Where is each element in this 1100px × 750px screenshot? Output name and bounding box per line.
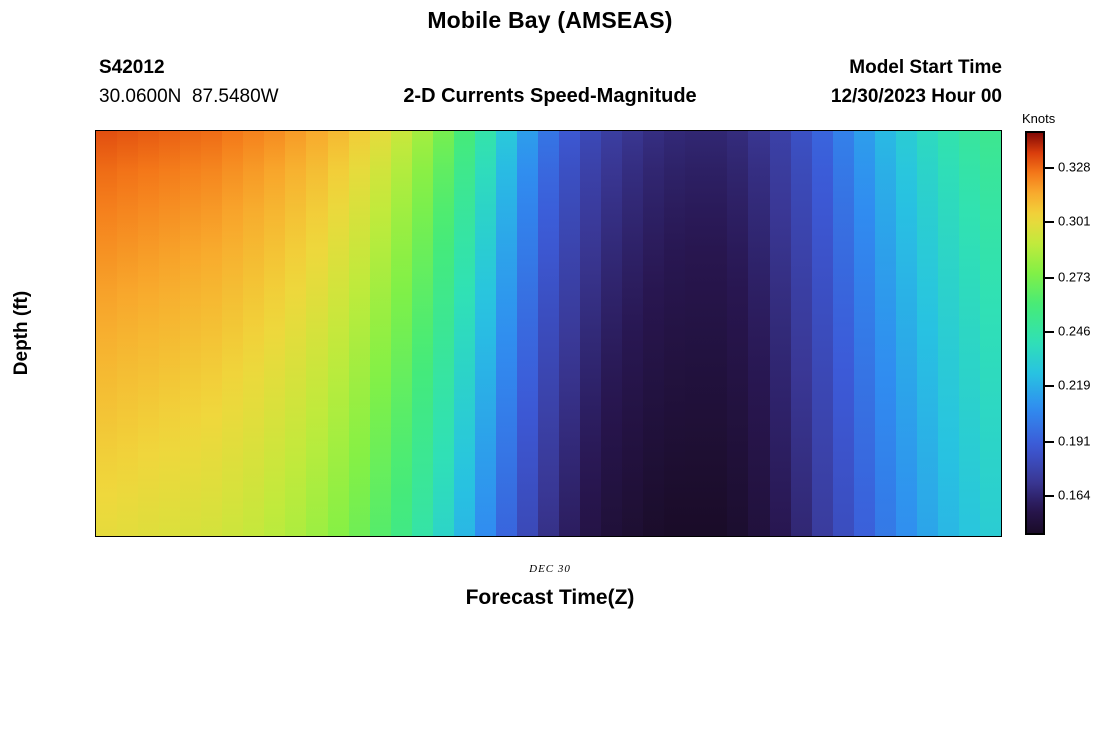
- y-axis-tick-minor: [95, 221, 96, 223]
- y-axis-tick-minor: [95, 298, 96, 300]
- y-axis-tick-major: [95, 452, 96, 454]
- heatmap-column: [96, 131, 117, 536]
- heatmap-column: [496, 131, 517, 536]
- station-id: S42012: [99, 57, 165, 79]
- heatmap-column: [812, 131, 833, 536]
- heatmap-column: [412, 131, 433, 536]
- colorbar-tick-label: 0.219: [1058, 379, 1091, 392]
- heatmap-column: [896, 131, 917, 536]
- right-axis-tick: [1001, 240, 1002, 242]
- right-axis-tick: [1001, 253, 1002, 255]
- right-axis-tick: [1001, 208, 1002, 210]
- y-axis-tick-major: [95, 485, 96, 487]
- heatmap-column: [117, 131, 138, 536]
- heatmap-column: [349, 131, 370, 536]
- right-axis-tick: [1001, 510, 1002, 512]
- heatmap-column: [159, 131, 180, 536]
- right-axis-tick: [1001, 182, 1002, 184]
- colorbar-tick-label: 0.164: [1058, 489, 1091, 502]
- y-axis-tick-minor: [95, 343, 96, 345]
- y-axis-tick-minor: [95, 375, 96, 377]
- heatmap-column: [748, 131, 769, 536]
- heatmap-column: [580, 131, 601, 536]
- right-axis-tick: [1001, 292, 1002, 294]
- y-axis-tick-major: [95, 388, 96, 390]
- y-axis-tick-minor: [95, 427, 96, 429]
- y-axis-tick-minor: [95, 202, 96, 204]
- heatmap-cells: [96, 131, 1001, 536]
- right-axis-tick: [1001, 195, 1002, 197]
- heatmap-column: [601, 131, 622, 536]
- y-axis-tick-minor: [95, 504, 96, 506]
- heatmap-column: [938, 131, 959, 536]
- y-axis-tick-minor: [95, 253, 96, 255]
- heatmap-column: [264, 131, 285, 536]
- y-axis-tick-major: [95, 420, 96, 422]
- heatmap-column: [980, 131, 1001, 536]
- colorbar-tick: [1043, 441, 1054, 443]
- heatmap-column: [559, 131, 580, 536]
- page-title-top: Mobile Bay (AMSEAS): [0, 7, 1100, 34]
- y-axis-tick-minor: [95, 311, 96, 313]
- right-axis-tick: [1001, 414, 1002, 416]
- colorbar-tick-label: 0.328: [1058, 161, 1091, 174]
- colorbar-tick: [1043, 495, 1054, 497]
- y-axis-tick-major: [95, 324, 96, 326]
- y-axis-tick-minor: [95, 305, 96, 307]
- right-axis-tick: [1001, 272, 1002, 274]
- heatmap-column: [664, 131, 685, 536]
- right-axis-tick: [1001, 536, 1002, 537]
- right-axis-tick: [1001, 446, 1002, 448]
- right-axis-tick: [1001, 504, 1002, 506]
- right-axis-tick: [1001, 163, 1002, 165]
- right-axis-tick: [1001, 401, 1002, 403]
- y-axis-tick-minor: [95, 170, 96, 172]
- model-start-time-value: 12/30/2023 Hour 00: [831, 86, 1002, 108]
- right-axis-tick: [1001, 343, 1002, 345]
- heatmap-column: [433, 131, 454, 536]
- heatmap-column: [391, 131, 412, 536]
- right-axis-tick: [1001, 298, 1002, 300]
- y-axis-tick-minor: [95, 285, 96, 287]
- y-axis-tick-minor: [95, 144, 96, 146]
- right-axis-tick: [1001, 517, 1002, 519]
- y-axis-tick-minor: [95, 497, 96, 499]
- right-axis-tick: [1001, 497, 1002, 499]
- right-axis-tick: [1001, 170, 1002, 172]
- right-axis-tick: [1001, 350, 1002, 352]
- heatmap-column: [454, 131, 475, 536]
- right-axis-tick: [1001, 459, 1002, 461]
- colorbar-tick-label: 0.273: [1058, 271, 1091, 284]
- right-axis-tick: [1001, 324, 1002, 326]
- heatmap-column: [706, 131, 727, 536]
- y-axis-tick-major: [95, 356, 96, 358]
- heatmap-column: [643, 131, 664, 536]
- x-axis-tick: [742, 536, 744, 537]
- right-axis-tick: [1001, 465, 1002, 467]
- y-axis-tick-major: [95, 260, 96, 262]
- x-axis-label: Forecast Time(Z): [0, 586, 1100, 610]
- x-axis-tick: [612, 536, 614, 537]
- colorbar-tick-label: 0.246: [1058, 325, 1091, 338]
- y-axis-tick-minor: [95, 240, 96, 242]
- y-axis-tick-major: [95, 292, 96, 294]
- right-axis-tick: [1001, 478, 1002, 480]
- right-axis-tick: [1001, 285, 1002, 287]
- y-axis-tick-major: [95, 227, 96, 229]
- model-start-time-label: Model Start Time: [849, 57, 1002, 79]
- y-axis-tick-minor: [95, 350, 96, 352]
- heatmap-column: [328, 131, 349, 536]
- y-axis-tick-minor: [95, 382, 96, 384]
- right-axis-tick: [1001, 523, 1002, 525]
- y-axis-tick-minor: [95, 157, 96, 159]
- y-axis-tick-minor: [95, 176, 96, 178]
- right-axis-tick: [1001, 266, 1002, 268]
- colorbar-tick: [1043, 385, 1054, 387]
- y-axis-tick-minor: [95, 459, 96, 461]
- right-axis-tick: [1001, 305, 1002, 307]
- x-axis-tick: [95, 536, 97, 537]
- y-axis-tick-minor: [95, 440, 96, 442]
- colorbar: 0.3280.3010.2730.2460.2190.1910.164: [1025, 131, 1045, 535]
- right-axis-tick: [1001, 407, 1002, 409]
- right-axis-tick: [1001, 157, 1002, 159]
- y-axis-tick-minor: [95, 446, 96, 448]
- heatmap-column: [770, 131, 791, 536]
- y-axis-label: Depth (ft): [11, 291, 33, 375]
- y-axis-tick-minor: [95, 317, 96, 319]
- x-axis-tick: [354, 536, 356, 537]
- heatmap-column: [791, 131, 812, 536]
- right-axis-tick: [1001, 388, 1002, 390]
- y-axis-tick-major: [95, 517, 96, 519]
- right-axis-tick: [1001, 317, 1002, 319]
- y-axis-tick-minor: [95, 272, 96, 274]
- y-axis-tick-minor: [95, 215, 96, 217]
- heatmap-column: [517, 131, 538, 536]
- y-axis-tick-minor: [95, 362, 96, 364]
- y-axis-tick-minor: [95, 478, 96, 480]
- heatmap-column: [622, 131, 643, 536]
- heatmap-column: [370, 131, 391, 536]
- heatmap-column: [243, 131, 264, 536]
- x-axis-tick: [871, 536, 873, 537]
- y-axis-tick-minor: [95, 234, 96, 236]
- right-axis-tick: [1001, 485, 1002, 487]
- right-axis-tick: [1001, 491, 1002, 493]
- y-axis-tick-minor: [95, 369, 96, 371]
- right-axis-tick: [1001, 227, 1002, 229]
- y-axis-tick-minor: [95, 395, 96, 397]
- heatmap-column: [854, 131, 875, 536]
- heatmap-column: [875, 131, 896, 536]
- colorbar-tick-label: 0.301: [1058, 215, 1091, 228]
- right-axis-tick: [1001, 131, 1002, 133]
- right-axis-tick: [1001, 472, 1002, 474]
- heatmap-column: [138, 131, 159, 536]
- right-axis-tick: [1001, 337, 1002, 339]
- right-axis-tick: [1001, 202, 1002, 204]
- right-axis-tick: [1001, 375, 1002, 377]
- right-axis-tick: [1001, 362, 1002, 364]
- x-axis-tick: [1000, 536, 1002, 537]
- y-axis-tick-minor: [95, 150, 96, 152]
- y-axis-tick-major: [95, 163, 96, 165]
- y-axis-tick-minor: [95, 266, 96, 268]
- heatmap-column: [538, 131, 559, 536]
- date-annotation: DEC 30: [0, 563, 1100, 575]
- right-axis-tick: [1001, 433, 1002, 435]
- right-axis-tick: [1001, 440, 1002, 442]
- heatmap-column: [833, 131, 854, 536]
- right-axis-tick: [1001, 530, 1002, 532]
- y-axis-tick-minor: [95, 330, 96, 332]
- right-axis-tick: [1001, 247, 1002, 249]
- y-axis-tick-minor: [95, 510, 96, 512]
- right-axis-tick: [1001, 234, 1002, 236]
- y-axis-tick-minor: [95, 523, 96, 525]
- heatmap-column: [727, 131, 748, 536]
- right-axis-tick: [1001, 137, 1002, 139]
- right-axis-tick: [1001, 330, 1002, 332]
- right-axis-tick: [1001, 176, 1002, 178]
- x-axis-tick: [225, 536, 227, 537]
- right-axis-tick: [1001, 369, 1002, 371]
- y-axis-tick-minor: [95, 407, 96, 409]
- colorbar-tick: [1043, 221, 1054, 223]
- right-axis-tick: [1001, 150, 1002, 152]
- heatmap-column: [959, 131, 980, 536]
- colorbar-tick: [1043, 277, 1054, 279]
- right-axis-tick: [1001, 144, 1002, 146]
- right-axis-tick: [1001, 382, 1002, 384]
- y-axis-tick-minor: [95, 208, 96, 210]
- colorbar-gradient: [1027, 133, 1043, 533]
- y-axis-tick-minor: [95, 536, 96, 537]
- y-axis-tick-minor: [95, 182, 96, 184]
- y-axis-tick-minor: [95, 337, 96, 339]
- y-axis-tick-minor: [95, 472, 96, 474]
- right-axis-tick: [1001, 260, 1002, 262]
- y-axis-tick-minor: [95, 414, 96, 416]
- y-axis-tick-minor: [95, 279, 96, 281]
- right-axis-tick: [1001, 356, 1002, 358]
- right-axis-tick: [1001, 215, 1002, 217]
- y-axis-tick-major: [95, 131, 96, 133]
- y-axis-tick-minor: [95, 433, 96, 435]
- heatmap-column: [180, 131, 201, 536]
- y-axis-tick-minor: [95, 247, 96, 249]
- colorbar-units-label: Knots: [1022, 111, 1055, 126]
- right-axis-tick: [1001, 427, 1002, 429]
- heatmap-column: [222, 131, 243, 536]
- y-axis-tick-minor: [95, 465, 96, 467]
- colorbar-tick: [1043, 167, 1054, 169]
- heatmap-column: [475, 131, 496, 536]
- right-axis-tick: [1001, 452, 1002, 454]
- right-axis-tick: [1001, 189, 1002, 191]
- right-axis-tick: [1001, 420, 1002, 422]
- heatmap-column: [285, 131, 306, 536]
- heatmap-column: [917, 131, 938, 536]
- y-axis-tick-minor: [95, 137, 96, 139]
- heatmap-column: [306, 131, 327, 536]
- heatmap-column: [685, 131, 706, 536]
- right-axis-tick: [1001, 279, 1002, 281]
- colorbar-tick-label: 0.191: [1058, 435, 1091, 448]
- y-axis-tick-minor: [95, 491, 96, 493]
- heatmap-column: [201, 131, 222, 536]
- right-axis-tick: [1001, 311, 1002, 313]
- y-axis-tick-major: [95, 195, 96, 197]
- y-axis-tick-minor: [95, 189, 96, 191]
- heatmap-plot-area: 051015202530354045505560 036912151821: [95, 130, 1002, 537]
- right-axis-tick: [1001, 395, 1002, 397]
- y-axis-tick-minor: [95, 530, 96, 532]
- y-axis-tick-minor: [95, 401, 96, 403]
- colorbar-tick: [1043, 331, 1054, 333]
- right-axis-tick: [1001, 221, 1002, 223]
- x-axis-tick: [483, 536, 485, 537]
- chart-figure: Mobile Bay (AMSEAS) S42012 30.0600N 87.5…: [0, 0, 1100, 750]
